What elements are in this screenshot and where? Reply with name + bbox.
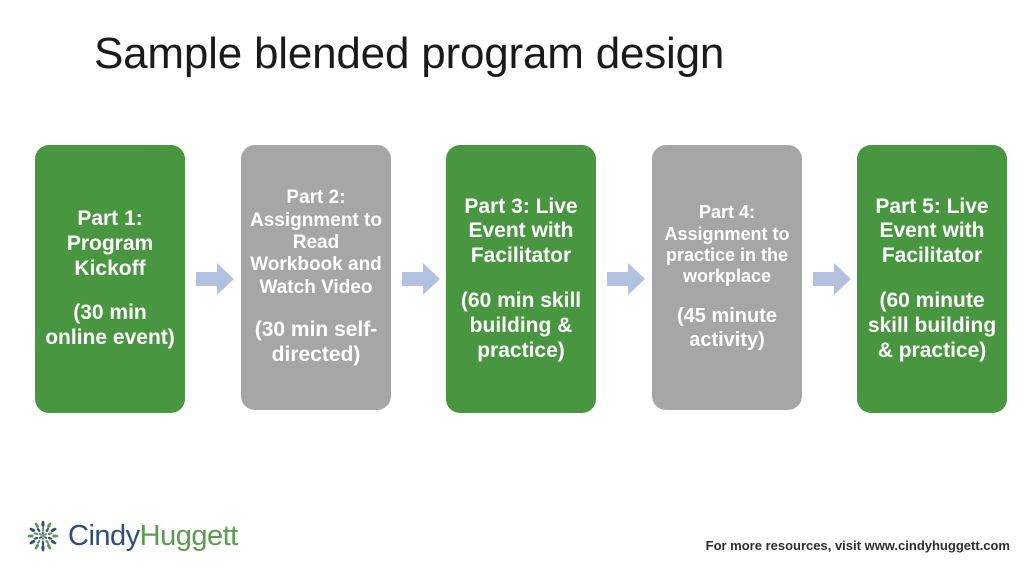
brand-word-cindy: Cindy <box>68 520 140 552</box>
right-arrow-icon <box>196 262 234 296</box>
flow-step-heading: Part 5: Live Event with Facilitator <box>863 195 1001 269</box>
right-arrow-icon <box>607 262 645 296</box>
flow-step-part-4[interactable]: Part 4: Assignment to practice in the wo… <box>652 145 802 410</box>
brand-logo-text: CindyHuggett <box>68 520 238 553</box>
brand-logo[interactable]: CindyHuggett <box>24 514 238 558</box>
page-title: Sample blended program design <box>94 30 724 78</box>
program-flow-diagram: Part 1: Program Kickoff (30 min online e… <box>0 145 1024 413</box>
flow-step-part-1[interactable]: Part 1: Program Kickoff (30 min online e… <box>35 145 185 413</box>
flow-step-part-2[interactable]: Part 2: Assignment to Read Workbook and … <box>241 145 391 410</box>
footer-resources-note: For more resources, visit www.cindyhugge… <box>706 538 1010 553</box>
flow-step-heading: Part 3: Live Event with Facilitator <box>452 195 590 269</box>
flow-step-detail: (60 minute skill building & practice) <box>863 289 1001 363</box>
flow-step-detail: (30 min online event) <box>41 301 179 351</box>
right-arrow-icon <box>813 262 851 296</box>
flow-step-heading: Part 1: Program Kickoff <box>41 207 179 281</box>
flow-step-part-5[interactable]: Part 5: Live Event with Facilitator (60 … <box>857 145 1007 413</box>
flow-step-heading: Part 4: Assignment to practice in the wo… <box>658 202 796 287</box>
right-arrow-icon <box>402 262 440 296</box>
flow-step-part-3[interactable]: Part 3: Live Event with Facilitator (60 … <box>446 145 596 413</box>
flow-step-detail: (30 min self-directed) <box>247 318 385 368</box>
flow-step-detail: (60 min skill building & practice) <box>452 289 590 363</box>
flow-step-detail: (45 minute activity) <box>658 305 796 352</box>
brand-word-huggett: Huggett <box>140 520 238 552</box>
circular-people-mandala-icon <box>24 517 62 555</box>
flow-step-heading: Part 2: Assignment to Read Workbook and … <box>247 187 385 299</box>
